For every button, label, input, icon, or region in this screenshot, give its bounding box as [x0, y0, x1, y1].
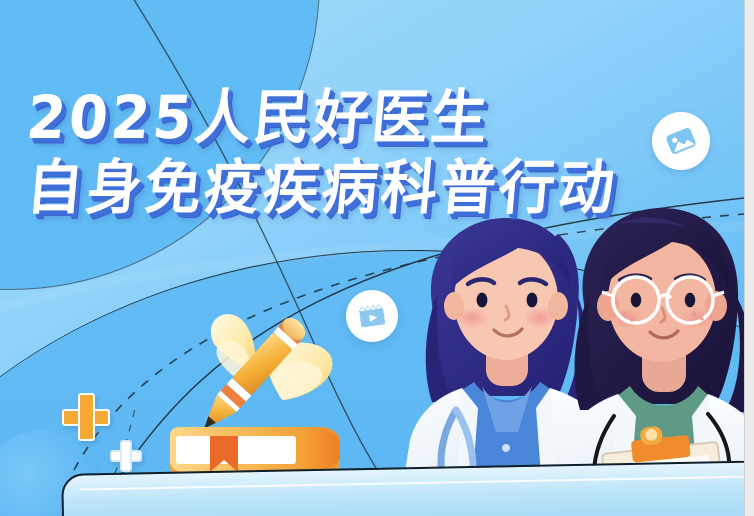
poster-canvas: 2025人民好医生 自身免疫疾病科普行动	[0, 0, 744, 516]
image-badge[interactable]	[652, 112, 710, 170]
white-plus-mark	[110, 440, 142, 472]
image-icon	[664, 124, 698, 158]
page-gutter	[744, 0, 754, 516]
video-icon	[357, 301, 387, 331]
video-badge[interactable]	[346, 290, 398, 342]
orange-plus-mark	[62, 393, 110, 441]
title-line-2: 自身免疫疾病科普行动	[24, 154, 620, 224]
poster-title: 2025人民好医生 自身免疫疾病科普行动	[30, 84, 620, 220]
title-line-1: 2025人民好医生	[24, 84, 620, 154]
